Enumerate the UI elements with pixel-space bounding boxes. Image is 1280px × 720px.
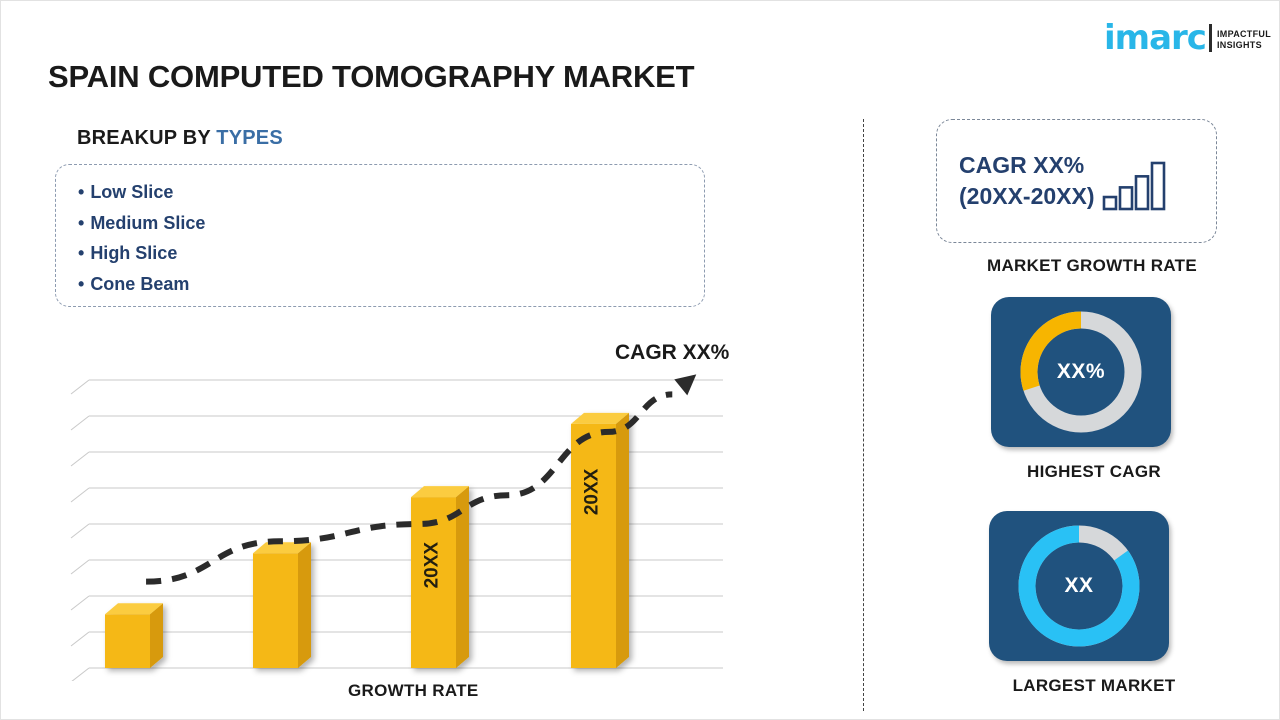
list-item: •High Slice (78, 238, 704, 269)
highest-cagr-card: XX% (991, 297, 1171, 447)
logo-wordmark: imarc (1104, 21, 1206, 55)
list-item: •Medium Slice (78, 208, 704, 239)
bar-chart-icon (1101, 157, 1167, 213)
breakup-heading-highlight: TYPES (216, 127, 283, 149)
svg-text:20XX: 20XX (422, 542, 443, 589)
bullet-icon: • (78, 274, 84, 294)
growth-rate-bar-chart: 20XX20XX (63, 336, 763, 681)
market-growth-rate-caption: MARKET GROWTH RATE (897, 256, 1280, 276)
chart-cagr-label: CAGR XX% (615, 341, 729, 365)
logo-tagline: IMPACTFUL INSIGHTS (1217, 29, 1271, 55)
cagr-text-block: CAGR XX% (20XX-20XX) (959, 150, 1095, 212)
chart-axis-label: GROWTH RATE (348, 681, 478, 701)
chart-bars (105, 413, 629, 668)
page-title: SPAIN COMPUTED TOMOGRAPHY MARKET (48, 59, 694, 95)
largest-market-caption: LARGEST MARKET (899, 676, 1280, 696)
list-item-label: Medium Slice (90, 213, 205, 233)
list-item-label: Cone Beam (90, 274, 189, 294)
list-item: •Cone Beam (78, 269, 704, 300)
imarc-logo: imarc IMPACTFUL INSIGHTS (1104, 15, 1271, 55)
list-item-label: Low Slice (90, 182, 173, 202)
bullet-icon: • (78, 213, 84, 233)
list-item: •Low Slice (78, 177, 704, 208)
cagr-period-line: (20XX-20XX) (959, 181, 1095, 212)
infographic-page: imarc IMPACTFUL INSIGHTS SPAIN COMPUTED … (0, 0, 1280, 720)
highest-cagr-caption: HIGHEST CAGR (899, 462, 1280, 482)
highest-cagr-value: XX% (1057, 360, 1105, 384)
market-growth-rate-box: CAGR XX% (20XX-20XX) (936, 119, 1217, 243)
bar-chart-svg: 20XX20XX (63, 336, 763, 681)
largest-market-value: XX (1064, 574, 1093, 598)
bullet-icon: • (78, 243, 84, 263)
cagr-value-line: CAGR XX% (959, 150, 1095, 181)
logo-divider-bar (1209, 24, 1212, 52)
bullet-icon: • (78, 182, 84, 202)
vertical-divider (863, 119, 864, 711)
logo-tagline-line2: INSIGHTS (1217, 40, 1271, 51)
largest-market-card: XX (989, 511, 1169, 661)
logo-tagline-line1: IMPACTFUL (1217, 29, 1271, 40)
list-item-label: High Slice (90, 243, 177, 263)
svg-text:20XX: 20XX (582, 468, 603, 515)
breakup-types-box: •Low Slice •Medium Slice •High Slice •Co… (55, 164, 705, 307)
breakup-heading-prefix: BREAKUP BY (77, 127, 216, 149)
breakup-heading: BREAKUP BY TYPES (77, 127, 283, 150)
